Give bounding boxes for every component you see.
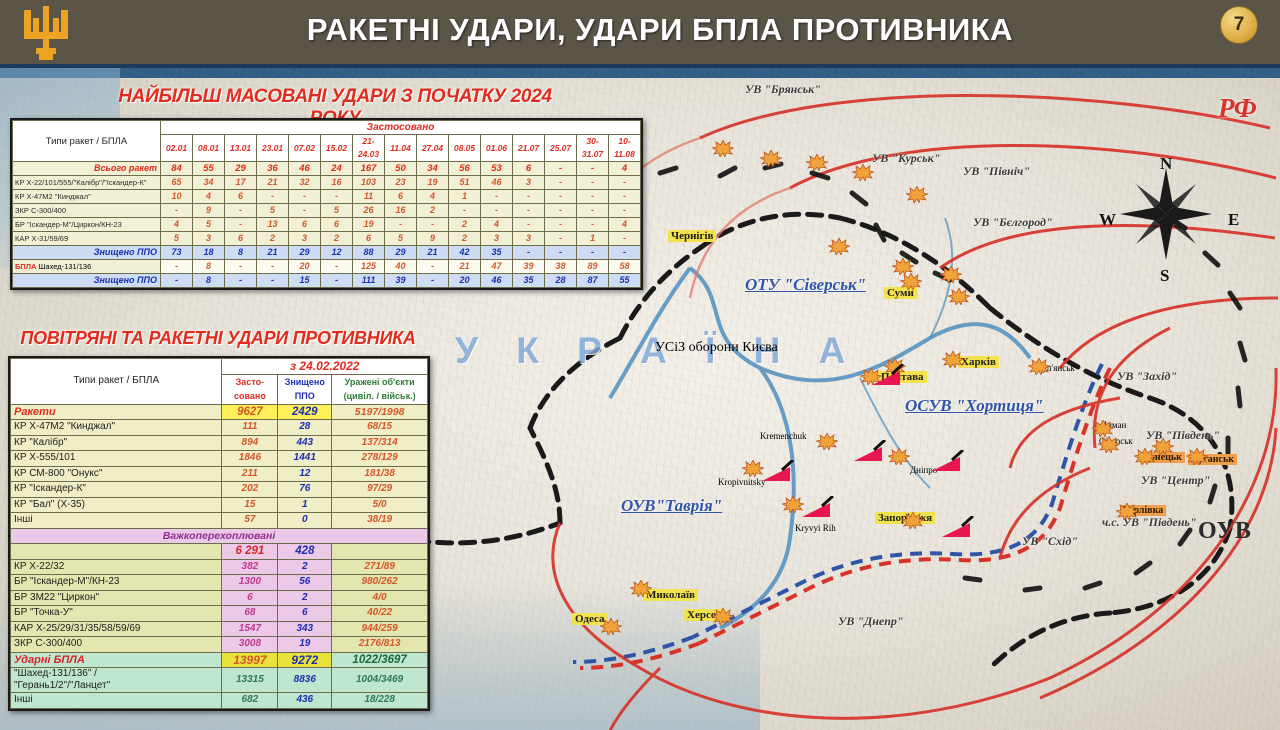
table1-cell: - [513, 246, 545, 260]
map-label-osuv-khortytsia: ОСУВ "Хортиця" [905, 396, 1043, 416]
table2-cell-objects: 97/29 [332, 482, 428, 498]
table1-cell: 51 [449, 176, 481, 190]
table1-cell: - [481, 190, 513, 204]
table1-cell: 15 [289, 274, 321, 288]
table2-row-label: КР "Іскандер-К" [11, 482, 222, 498]
table2-row-label: БР "Іскандер-М"/КН-23 [11, 575, 222, 591]
table1-row: КР Х-22/101/555/"Калібр"/"Іскандер-К"653… [13, 176, 641, 190]
page-title: РАКЕТНІ УДАРИ, УДАРИ БПЛА ПРОТИВНИКА [250, 12, 1070, 48]
table1-cell: - [321, 260, 353, 274]
table1-cell: 5 [257, 204, 289, 218]
table1-cell: 3 [513, 176, 545, 190]
table1: Типи ракет / БПЛА Застосовано 02.0108.01… [12, 120, 641, 288]
table1-cell: - [513, 204, 545, 218]
explosion-icon [1028, 358, 1050, 375]
table1-cell: 16 [385, 204, 417, 218]
table2-cell-destroyed: 19 [278, 637, 332, 653]
table1-cell: 111 [353, 274, 385, 288]
missile-launcher-icon [800, 496, 834, 518]
table2-row: БР "Іскандер-М"/КН-23130056980/262 [11, 575, 428, 591]
table2-cell-applied: 6 [222, 590, 278, 606]
explosion-icon [942, 351, 964, 368]
table1-cell: 8 [225, 246, 257, 260]
table1-cell: - [161, 204, 193, 218]
table2-row: "Шахед-131/136" /"Герань1/2"/"Ланцет"133… [11, 668, 428, 693]
explosion-icon [712, 608, 734, 625]
table1-header-group-row: Типи ракет / БПЛА Застосовано [13, 121, 641, 135]
table2-cell-destroyed: 343 [278, 621, 332, 637]
explosion-icon [888, 448, 910, 465]
table1-cell: 9 [193, 204, 225, 218]
map-label-uv-belgorod: УВ "Бєлгород" [973, 215, 1053, 230]
table1-cell: 6 [385, 190, 417, 204]
table1-cell: 3 [289, 232, 321, 246]
table2-cell-destroyed: 0 [278, 513, 332, 529]
table1-cell: 4 [481, 218, 513, 232]
table1-cell: 6 [321, 218, 353, 232]
table1-cell: 29 [225, 162, 257, 176]
table1-cell: - [545, 232, 577, 246]
compass-east-label: E [1228, 210, 1239, 230]
table1-cell: - [577, 162, 609, 176]
table1-cell: 24 [321, 162, 353, 176]
table1-cell: 2 [449, 232, 481, 246]
table1-cell: 167 [353, 162, 385, 176]
table1-cell: 32 [289, 176, 321, 190]
table2-total-destroyed: 428 [278, 544, 332, 560]
table1-date-header: 10-11.08 [609, 135, 641, 162]
table1-cell: 6 [225, 190, 257, 204]
map-label-uv-kursk: УВ "Курськ" [872, 151, 940, 166]
table1-cell: 4 [609, 218, 641, 232]
explosion-icon [1186, 448, 1208, 465]
table1-row: КР Х-47М2 "Кинджал"1046---11641----- [13, 190, 641, 204]
map-label-uv-shid: УВ "Схід" [1022, 534, 1078, 549]
table1-cell: 20 [449, 274, 481, 288]
table1-cell: 56 [449, 162, 481, 176]
table1-cell: - [225, 260, 257, 274]
rf-label: РФ [1218, 93, 1257, 124]
table1-cell: 53 [481, 162, 513, 176]
table1-cell: 36 [257, 162, 289, 176]
map-label-uv-zahid: УВ "Захід" [1117, 369, 1177, 384]
table1-cell: 13 [257, 218, 289, 232]
table1-cell: 6 [225, 232, 257, 246]
table1-date-header: 27.04 [417, 135, 449, 162]
table1-row: Знищено ППО-8--15-11139-204635288755 [13, 274, 641, 288]
table1-cell: 103 [353, 176, 385, 190]
table2-total-objects [332, 544, 428, 560]
table2-cell-destroyed: 1 [278, 497, 332, 513]
table2-cell-destroyed: 76 [278, 482, 332, 498]
table1-cell: 16 [321, 176, 353, 190]
table1-cell: 23 [385, 176, 417, 190]
table1-date-header: 30-31.07 [577, 135, 609, 162]
table1-cell: 21 [417, 246, 449, 260]
table1-cell: 21 [257, 176, 289, 190]
explosion-icon [900, 273, 922, 290]
table1-date-header: 11.04 [385, 135, 417, 162]
missile-launcher-icon [930, 450, 964, 472]
table1-cell: 87 [577, 274, 609, 288]
table1-cell: 21 [449, 260, 481, 274]
explosion-icon [940, 266, 962, 283]
table1-row-label: БПЛА Шахед-131/136 [13, 260, 161, 274]
table2-row: КР "Бал" (Х-35)1515/0 [11, 497, 428, 513]
table1-cell: - [481, 204, 513, 218]
table1-cell: - [289, 190, 321, 204]
table1-cell: - [225, 274, 257, 288]
table2-cell-destroyed: 2 [278, 559, 332, 575]
table1-row: ЗКР С-300/400-9-5-526162------ [13, 204, 641, 218]
table2-cell-destroyed: 6 [278, 606, 332, 622]
table1-cell: 5 [321, 204, 353, 218]
table2-row: БР "Точка-У"68640/22 [11, 606, 428, 622]
table1-cell: 11 [353, 190, 385, 204]
map-label-otu-siversk: ОТУ "Сіверськ" [745, 275, 866, 295]
explosion-icon [906, 186, 928, 203]
table1-row-label: КР Х-47М2 "Кинджал" [13, 190, 161, 204]
compass-south-label: S [1160, 266, 1169, 286]
table2-cell-objects: 38/19 [332, 513, 428, 529]
table2-cell-applied: 1300 [222, 575, 278, 591]
table2-cell-objects: 5/0 [332, 497, 428, 513]
table1-cell: 35 [481, 246, 513, 260]
table2-row: БР 3М22 "Циркон"624/0 [11, 590, 428, 606]
table2-row: КР Х-555/10118461441278/129 [11, 451, 428, 467]
table2-cell-applied: 13315 [222, 668, 278, 693]
table2-row: ЗКР С-300/4003008192176/813 [11, 637, 428, 653]
table1-cell: 4 [161, 218, 193, 232]
explosion-icon [630, 580, 652, 597]
table1-cell: 4 [193, 190, 225, 204]
table1-cell: 73 [161, 246, 193, 260]
table1-date-header: 08.01 [193, 135, 225, 162]
table1-cell: 65 [161, 176, 193, 190]
table2-cell-applied: 15 [222, 497, 278, 513]
table1-cell: 5 [193, 218, 225, 232]
table2-row-label: Інші [11, 513, 222, 529]
table2-cell-applied: 382 [222, 559, 278, 575]
table2-cell-objects: 944/259 [332, 621, 428, 637]
table1-cell: - [577, 204, 609, 218]
table1-row-label: Знищено ППО [13, 246, 161, 260]
table1-cell: - [289, 204, 321, 218]
table2-row-label: "Шахед-131/136" /"Герань1/2"/"Ланцет" [11, 668, 222, 693]
table1-cell: 10 [161, 190, 193, 204]
table2-row: КАР Х-25/29/31/35/58/59/691547343944/259 [11, 621, 428, 637]
table1-cell: 1 [449, 190, 481, 204]
table2-row-label: КР СМ-800 "Онукс" [11, 466, 222, 482]
explosion-icon [1152, 438, 1174, 455]
table2-col-applied: Засто-совано [222, 374, 278, 404]
table1-cell: 18 [193, 246, 225, 260]
explosion-icon [1098, 436, 1120, 453]
table1-col-type: Типи ракет / БПЛА [13, 121, 161, 162]
table1-cell: - [577, 176, 609, 190]
table1-cell: 55 [609, 274, 641, 288]
table2-total-applied: 6 291 [222, 544, 278, 560]
table2-row: Інші57038/19 [11, 513, 428, 529]
table1-cell: - [417, 218, 449, 232]
table1-cell: 2 [321, 232, 353, 246]
table2-section-title: Ударні БПЛА [11, 652, 222, 668]
table1-date-header: 07.02 [289, 135, 321, 162]
table1-cell: 3 [481, 232, 513, 246]
table2-row: КР Х-22/323822271/89 [11, 559, 428, 575]
table1-cell: - [449, 204, 481, 218]
table2-section-header: Важкоперехоплювані [11, 528, 428, 544]
table1-cell: 9 [417, 232, 449, 246]
table2-cell-destroyed: 12 [278, 466, 332, 482]
table2-row: КР Х-47М2 "Кинджал"1112868/15 [11, 420, 428, 436]
table1-cell: 35 [513, 274, 545, 288]
table2-row-label: КР "Бал" (Х-35) [11, 497, 222, 513]
table1-cell: 40 [385, 260, 417, 274]
table2-cell-destroyed: 2 [278, 590, 332, 606]
table2-row-label: КР Х-555/101 [11, 451, 222, 467]
table2-cell-applied: 211 [222, 466, 278, 482]
table2-cell-objects: 980/262 [332, 575, 428, 591]
table1-cell: 19 [353, 218, 385, 232]
table1-date-header: 15.02 [321, 135, 353, 162]
explosion-icon [806, 154, 828, 171]
table1-cell: - [257, 274, 289, 288]
table2-body: Ракети962724295197/1998КР Х-47М2 "Кинджа… [11, 404, 428, 708]
table1-cell: 46 [481, 274, 513, 288]
table2-row: КР СМ-800 "Онукс"21112181/38 [11, 466, 428, 482]
table2-row-label: КАР Х-25/29/31/35/58/59/69 [11, 621, 222, 637]
table2-total-applied: 13997 [222, 652, 278, 668]
explosion-icon [760, 150, 782, 167]
explosion-icon [948, 288, 970, 305]
table1-cell: 20 [289, 260, 321, 274]
table1-cell: - [161, 274, 193, 288]
table1-panel[interactable]: Типи ракет / БПЛА Застосовано 02.0108.01… [10, 118, 643, 290]
table1-row: БПЛА Шахед-131/136-8--20-12540-214739388… [13, 260, 641, 274]
table2-cell-destroyed: 443 [278, 435, 332, 451]
map-label-ouv-tavria: ОУВ"Таврія" [621, 496, 722, 516]
table1-cell: - [513, 218, 545, 232]
table1-cell: - [577, 190, 609, 204]
table2-row: Інші68243618/228 [11, 693, 428, 709]
table1-cell: 34 [193, 176, 225, 190]
table1-cell: 6 [513, 162, 545, 176]
table2-cell-applied: 111 [222, 420, 278, 436]
table1-cell: 39 [513, 260, 545, 274]
table2-cell-applied: 894 [222, 435, 278, 451]
table1-date-header: 21-24.03 [353, 135, 385, 162]
table1-cell: - [545, 190, 577, 204]
table1-cell: 21 [257, 246, 289, 260]
table1-cell: - [545, 162, 577, 176]
table1-row: БР "Іскандер-М"/Циркон/КН-2345-136619--2… [13, 218, 641, 232]
table1-body: Всього ракет845529364624167503456536--4К… [13, 162, 641, 288]
map-label-uv-dnepr: УВ "Днепр" [838, 614, 904, 629]
table2-cell-applied: 1846 [222, 451, 278, 467]
table2-col-type: Типи ракет / БПЛА [11, 359, 222, 405]
table1-cell: 2 [449, 218, 481, 232]
table2-row-label: КР "Калібр" [11, 435, 222, 451]
table2-head: Типи ракет / БПЛА з 24.02.2022 Засто-сов… [11, 359, 428, 405]
table1-cell: 34 [417, 162, 449, 176]
table1-cell: 4 [609, 162, 641, 176]
table1-cell: - [321, 190, 353, 204]
table1-cell: - [417, 260, 449, 274]
table1-col-group-applied: Застосовано [161, 121, 641, 135]
table1-cell: 47 [481, 260, 513, 274]
map-label-uv-centr: УВ "Центр" [1141, 473, 1210, 488]
table1-date-header: 02.01 [161, 135, 193, 162]
table2: Типи ракет / БПЛА з 24.02.2022 Засто-сов… [10, 358, 428, 709]
table1-row-label: КАР Х-31/59/69 [13, 232, 161, 246]
table1-cell: - [545, 176, 577, 190]
table2-cell-applied: 682 [222, 693, 278, 709]
table1-row-label: Знищено ППО [13, 274, 161, 288]
table1-cell: 42 [449, 246, 481, 260]
table2-total-destroyed: 9272 [278, 652, 332, 668]
page-number-badge: 7 [1220, 6, 1258, 44]
table1-cell: 26 [353, 204, 385, 218]
table1-cell: 46 [289, 162, 321, 176]
map-city-kremenchuk: Kremenchuk [760, 431, 806, 441]
table1-cell: 4 [417, 190, 449, 204]
table1-date-header: 13.01 [225, 135, 257, 162]
table1-row-label: ЗКР С-300/400 [13, 204, 161, 218]
map-label-uv-bryansk: УВ "Брянськ" [745, 82, 821, 97]
table1-cell: - [545, 218, 577, 232]
table1-cell: - [225, 204, 257, 218]
missile-launcher-icon [940, 516, 974, 538]
table2-col-objects: Уражені об'єкти (цивіл. / військ.) [332, 374, 428, 404]
table1-cell: - [225, 218, 257, 232]
table1-cell: 6 [353, 232, 385, 246]
table2-cell-objects: 2176/813 [332, 637, 428, 653]
table2-section-total: Ракети962724295197/1998 [11, 404, 428, 420]
table1-cell: 84 [161, 162, 193, 176]
table1-cell: - [545, 246, 577, 260]
table2-cell-objects: 271/89 [332, 559, 428, 575]
page-header: РАКЕТНІ УДАРИ, УДАРИ БПЛА ПРОТИВНИКА 7 [0, 0, 1280, 68]
table1-cell: - [161, 260, 193, 274]
table1-row-label: Всього ракет [13, 162, 161, 176]
table1-cell: 1 [577, 232, 609, 246]
table1-row: Знищено ППО731882129128829214235---- [13, 246, 641, 260]
table1-row-label: БР "Іскандер-М"/Циркон/КН-23 [13, 218, 161, 232]
table2-cell-objects: 40/22 [332, 606, 428, 622]
table1-cell: - [609, 246, 641, 260]
table2-cell-objects: 278/129 [332, 451, 428, 467]
table2-cell-destroyed: 28 [278, 420, 332, 436]
table2-total-objects: 1022/3697 [332, 652, 428, 668]
table2-row-label: КР Х-47М2 "Кинджал" [11, 420, 222, 436]
map-city-kryvyi-rih: Kryvyi Rih [795, 523, 836, 533]
table2-section-total: 6 291428 [11, 544, 428, 560]
table1-cell: 5 [385, 232, 417, 246]
table2-total-objects: 5197/1998 [332, 404, 428, 420]
table1-cell: 8 [193, 260, 225, 274]
table2-total-label [11, 544, 222, 560]
table1-cell: 50 [385, 162, 417, 176]
table2-cell-objects: 4/0 [332, 590, 428, 606]
missile-launcher-icon [760, 460, 794, 482]
table1-cell: 28 [545, 274, 577, 288]
table2-row-label: КР Х-22/32 [11, 559, 222, 575]
table2-row: КР "Калібр"894443137/314 [11, 435, 428, 451]
explosion-icon [852, 164, 874, 181]
map-city-chernihiv: Чернігів [668, 230, 716, 242]
ouv-label: ОУВ [1198, 518, 1252, 545]
table1-cell: 12 [321, 246, 353, 260]
map-label-usiz-kyiv: УСіЗ оборони Києва [655, 340, 778, 356]
table2-cell-objects: 181/38 [332, 466, 428, 482]
table1-cell: - [321, 274, 353, 288]
table1-cell: - [257, 260, 289, 274]
table1-cell: - [545, 204, 577, 218]
table2-section-title: Ракети [11, 404, 222, 420]
table1-cell: 2 [417, 204, 449, 218]
table1-date-header: 25.07 [545, 135, 577, 162]
table1-cell: 29 [385, 246, 417, 260]
table2-cell-applied: 1547 [222, 621, 278, 637]
table2-cell-objects: 137/314 [332, 435, 428, 451]
table1-date-header: 21.07 [513, 135, 545, 162]
table2-section-total: Ударні БПЛА1399792721022/3697 [11, 652, 428, 668]
table2-cell-applied: 57 [222, 513, 278, 529]
missile-launcher-icon [870, 364, 904, 386]
table1-cell: - [577, 246, 609, 260]
table1-cell: 6 [289, 218, 321, 232]
explosion-icon [1116, 503, 1138, 520]
table1-date-header: 23.01 [257, 135, 289, 162]
table1-cell: - [609, 204, 641, 218]
table1-cell: 19 [417, 176, 449, 190]
table1-cell: 89 [577, 260, 609, 274]
table1-cell: 5 [161, 232, 193, 246]
compass-west-label: W [1099, 210, 1116, 230]
map-label-uv-pivnich: УВ "Північ" [963, 164, 1030, 179]
table2-cell-destroyed: 8836 [278, 668, 332, 693]
table2-cell-objects: 68/15 [332, 420, 428, 436]
table1-cell: 88 [353, 246, 385, 260]
table2-cell-destroyed: 1441 [278, 451, 332, 467]
explosion-icon [1092, 420, 1114, 437]
table1-cell: - [385, 218, 417, 232]
table2-panel[interactable]: Типи ракет / БПЛА з 24.02.2022 Засто-сов… [8, 356, 430, 711]
table1-cell: - [577, 218, 609, 232]
table2-header-since-row: Типи ракет / БПЛА з 24.02.2022 [11, 359, 428, 375]
table1-row-label: КР Х-22/101/555/"Калібр"/"Іскандер-К" [13, 176, 161, 190]
table1-cell: 55 [193, 162, 225, 176]
table2-row-label: ЗКР С-300/400 [11, 637, 222, 653]
table1-cell: - [609, 232, 641, 246]
table1-row: КАР Х-31/59/69536232659233-1- [13, 232, 641, 246]
table2-since-label: з 24.02.2022 [222, 359, 428, 375]
table2-row-label: Інші [11, 693, 222, 709]
table1-date-header: 08.05 [449, 135, 481, 162]
table1-cell: 3 [193, 232, 225, 246]
trident-emblem [18, 4, 74, 66]
table2-cell-applied: 68 [222, 606, 278, 622]
table1-head: Типи ракет / БПЛА Застосовано 02.0108.01… [13, 121, 641, 162]
map-city-kharkiv: Харків [958, 356, 999, 368]
table2-section-title: Важкоперехоплювані [11, 528, 428, 544]
table1-cell: - [513, 190, 545, 204]
table1-cell: 46 [481, 176, 513, 190]
table1-cell: 38 [545, 260, 577, 274]
table2-row-label: БР "Точка-У" [11, 606, 222, 622]
table1-cell: 17 [225, 176, 257, 190]
